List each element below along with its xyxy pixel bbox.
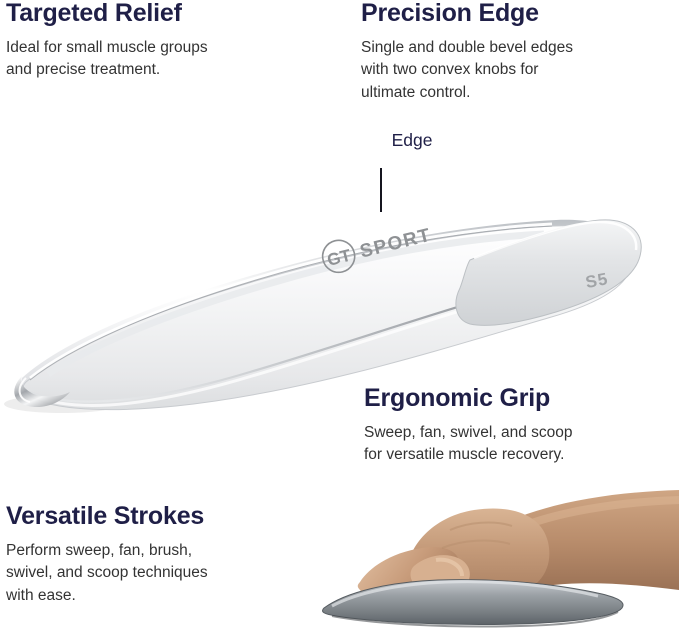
feature-ergonomic-grip: Ergonomic Grip Sweep, fan, swivel, and s… <box>364 385 664 467</box>
product-infographic: Targeted Relief Ideal for small muscle g… <box>0 0 679 642</box>
description-line: Ideal for small muscle groups <box>6 37 336 60</box>
edge-callout-leader-line <box>380 168 382 212</box>
hand-back <box>405 508 549 599</box>
edge-callout-label: Edge <box>352 132 472 150</box>
description-line: Sweep, fan, swivel, and scoop <box>364 422 664 445</box>
tool-edge-specular <box>30 224 552 378</box>
tool-shadow <box>4 395 120 413</box>
tool-top-highlight <box>22 220 636 399</box>
brand-logo-initials: GT <box>325 246 353 270</box>
feature-targeted-relief: Targeted Relief Ideal for small muscle g… <box>6 0 336 82</box>
brand-logo-circle <box>319 237 358 276</box>
feature-heading-precision-edge: Precision Edge <box>361 0 671 28</box>
tool-tip-highlight <box>20 378 30 402</box>
tool-in-hand-shadow-edge <box>332 612 618 627</box>
feature-heading-targeted-relief: Targeted Relief <box>6 0 336 28</box>
description-line: with two convex knobs for <box>361 59 671 82</box>
knuckle-crease <box>442 541 510 548</box>
tool-tip-chrome <box>14 376 70 407</box>
product-tool-illustration: S5 GT SPORT <box>0 196 660 412</box>
description-line: with ease. <box>6 585 316 608</box>
tool-edge-line <box>30 226 552 380</box>
brand-mark-group: GT SPORT <box>319 218 434 276</box>
tool-blade-face <box>23 226 632 410</box>
tool-in-hand <box>323 580 624 627</box>
description-line: ultimate control. <box>361 82 671 105</box>
tool-body: S5 GT SPORT <box>14 218 641 410</box>
brand-logo-name: SPORT <box>358 225 434 263</box>
description-line: for versatile muscle recovery. <box>364 444 664 467</box>
feature-description-targeted-relief: Ideal for small muscle groups and precis… <box>6 37 336 83</box>
feature-description-versatile-strokes: Perform sweep, fan, brush, swivel, and s… <box>6 540 316 608</box>
feature-precision-edge: Precision Edge Single and double bevel e… <box>361 0 671 105</box>
product-model-code: S5 <box>584 269 610 292</box>
description-line: Single and double bevel edges <box>361 37 671 60</box>
edge-callout: Edge <box>352 132 472 150</box>
feature-description-precision-edge: Single and double bevel edges with two c… <box>361 37 671 105</box>
index-finger <box>358 547 460 599</box>
description-line: and precise treatment. <box>6 59 336 82</box>
description-line: swivel, and scoop techniques <box>6 562 316 585</box>
tool-in-hand-body <box>323 580 624 625</box>
tool-paddle-end <box>456 220 641 326</box>
feature-description-ergonomic-grip: Sweep, fan, swivel, and scoop for versat… <box>364 422 664 468</box>
thumb-highlight <box>436 560 462 576</box>
hand-holding-tool-photo <box>318 486 679 642</box>
tool-left-tip <box>14 376 70 407</box>
feature-versatile-strokes: Versatile Strokes Perform sweep, fan, br… <box>6 503 316 608</box>
tool-inner-reflection <box>48 234 544 374</box>
description-line: Perform sweep, fan, brush, <box>6 540 316 563</box>
feature-heading-versatile-strokes: Versatile Strokes <box>6 503 316 531</box>
tool-paddle-highlight <box>474 222 636 258</box>
tool-lower-bevel <box>30 262 632 402</box>
thumb <box>411 555 470 594</box>
forearm <box>490 490 679 591</box>
feature-heading-ergonomic-grip: Ergonomic Grip <box>364 385 664 413</box>
knuckle-crease <box>450 523 512 530</box>
tool-in-hand-highlight <box>332 582 598 606</box>
forearm-highlight <box>514 500 679 530</box>
